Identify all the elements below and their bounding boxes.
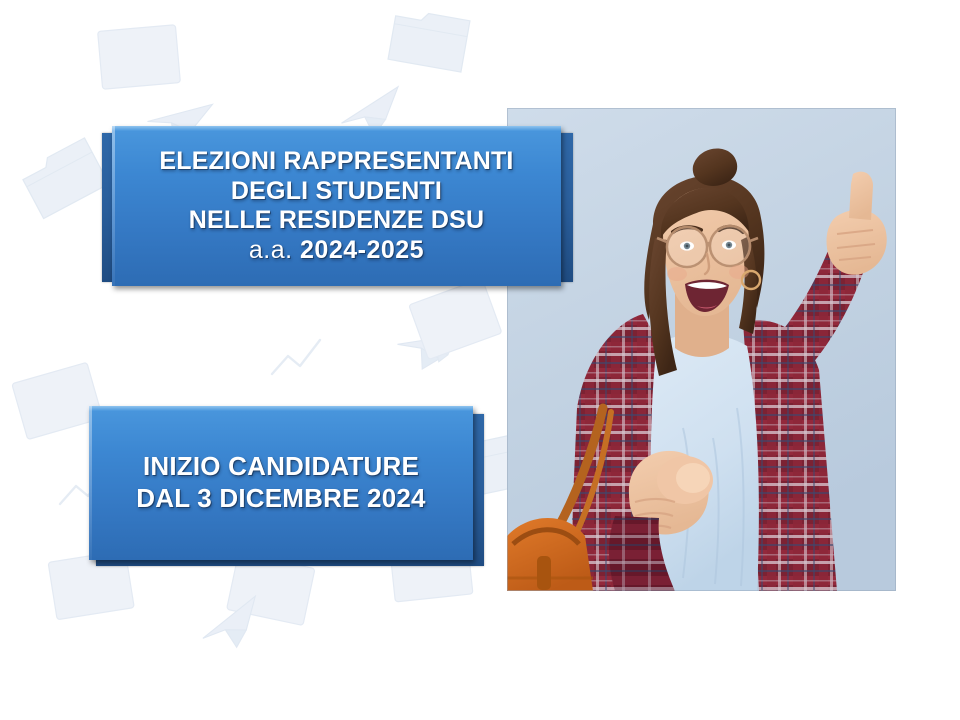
main-callout-line-3: NELLE RESIDENZE DSU bbox=[159, 206, 513, 236]
academic-year-line: a.a. 2024-2025 bbox=[159, 236, 513, 266]
main-callout-text: ELEZIONI RAPPRESENTANTI DEGLI STUDENTI N… bbox=[145, 147, 527, 265]
dates-callout-box: INIZIO CANDIDATURE DAL 3 DICEMBRE 2024 bbox=[89, 406, 473, 560]
main-callout-box: ELEZIONI RAPPRESENTANTI DEGLI STUDENTI N… bbox=[112, 126, 561, 286]
dates-callout-line-1: INIZIO CANDIDATURE bbox=[136, 451, 425, 483]
poster-slide: ELEZIONI RAPPRESENTANTI DEGLI STUDENTI N… bbox=[0, 0, 960, 720]
dates-callout-line-2: DAL 3 DICEMBRE 2024 bbox=[136, 483, 425, 515]
academic-year-prefix: a.a. bbox=[249, 236, 300, 264]
main-callout-line-2: DEGLI STUDENTI bbox=[159, 177, 513, 207]
main-callout-line-1: ELEZIONI RAPPRESENTANTI bbox=[159, 147, 513, 177]
academic-year-value: 2024-2025 bbox=[300, 236, 424, 264]
dates-callout-text: INIZIO CANDIDATURE DAL 3 DICEMBRE 2024 bbox=[122, 451, 439, 514]
